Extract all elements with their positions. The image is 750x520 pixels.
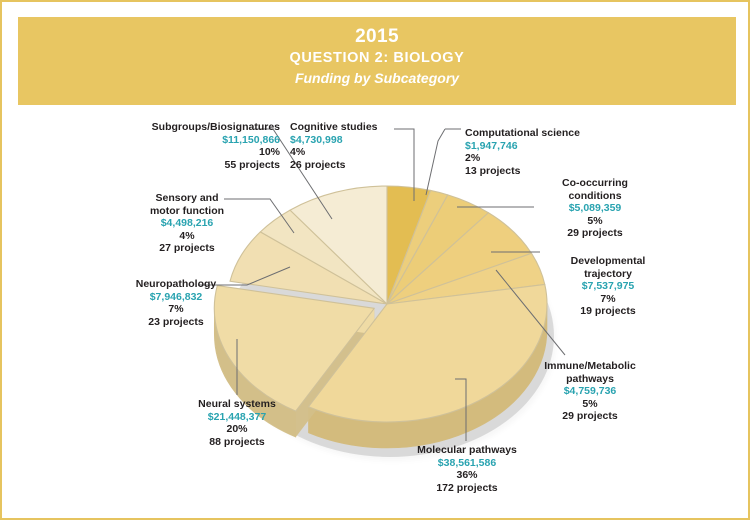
callout-label-name: Neuropathology (112, 278, 240, 291)
callout-label-projects: 23 projects (112, 316, 240, 329)
callout-label-name-line2: pathways (526, 373, 654, 386)
callout-subgroups-biosignatures: Subgroups/Biosignatures $11,150,866 10% … (110, 121, 280, 171)
callout-label-percent: 36% (393, 469, 541, 482)
chart-page: 2015 QUESTION 2: BIOLOGY Funding by Subc… (0, 0, 750, 520)
callout-label-percent: 4% (126, 230, 248, 243)
callout-label-percent: 7% (112, 303, 240, 316)
callout-label-name-line1: Co-occurring (537, 177, 653, 190)
header-question: QUESTION 2: BIOLOGY (18, 48, 736, 68)
callout-label-projects: 29 projects (537, 227, 653, 240)
callout-label-projects: 55 projects (110, 159, 280, 172)
callout-label-percent: 5% (537, 215, 653, 228)
callout-neuropathology: Neuropathology $7,946,832 7% 23 projects (112, 278, 240, 328)
callout-sensory-and-motor-function: Sensory and motor function $4,498,216 4%… (126, 192, 248, 255)
callout-developmental-trajectory: Developmental trajectory $7,537,975 7% 1… (545, 255, 671, 318)
callout-label-percent: 7% (545, 293, 671, 306)
callout-label-name-line1: Sensory and (126, 192, 248, 205)
callout-label-amount: $38,561,586 (393, 457, 541, 470)
header-year: 2015 (18, 26, 736, 48)
callout-molecular-pathways: Molecular pathways $38,561,586 36% 172 p… (393, 444, 541, 494)
callout-label-percent: 4% (290, 146, 402, 159)
callout-label-percent: 2% (465, 152, 605, 165)
callout-label-name: Computational science (465, 127, 605, 140)
callout-label-projects: 13 projects (465, 165, 605, 178)
callout-label-amount: $11,150,866 (110, 134, 280, 147)
callout-neural-systems: Neural systems $21,448,377 20% 88 projec… (172, 398, 302, 448)
callout-cognitive-studies: Cognitive studies $4,730,998 4% 26 proje… (290, 121, 402, 171)
callout-label-projects: 88 projects (172, 436, 302, 449)
callout-label-amount: $4,498,216 (126, 217, 248, 230)
callout-label-projects: 27 projects (126, 242, 248, 255)
callout-label-amount: $4,730,998 (290, 134, 402, 147)
callout-label-projects: 19 projects (545, 305, 671, 318)
callout-label-amount: $7,537,975 (545, 280, 671, 293)
callout-label-name-line2: conditions (537, 190, 653, 203)
callout-label-name-line2: trajectory (545, 268, 671, 281)
callout-label-projects: 172 projects (393, 482, 541, 495)
callout-label-percent: 5% (526, 398, 654, 411)
callout-label-name-line1: Developmental (545, 255, 671, 268)
callout-label-amount: $1,947,746 (465, 140, 605, 153)
pie-chart-area: Cognitive studies — $4,730,998 (4%, 26 p… (2, 107, 750, 520)
callout-label-amount: $4,759,736 (526, 385, 654, 398)
callout-co-occurring-conditions: Co-occurring conditions $5,089,359 5% 29… (537, 177, 653, 240)
callout-label-percent: 20% (172, 423, 302, 436)
header-subtitle: Funding by Subcategory (18, 68, 736, 88)
callout-immune-metabolic-pathways: Immune/Metabolic pathways $4,759,736 5% … (526, 360, 654, 423)
callout-label-percent: 10% (110, 146, 280, 159)
callout-label-amount: $5,089,359 (537, 202, 653, 215)
callout-label-name: Molecular pathways (393, 444, 541, 457)
callout-label-name: Cognitive studies (290, 121, 402, 134)
callout-label-name-line2: motor function (126, 205, 248, 218)
callout-label-projects: 26 projects (290, 159, 402, 172)
callout-computational-science: Computational science $1,947,746 2% 13 p… (465, 127, 605, 177)
callout-label-amount: $21,448,377 (172, 411, 302, 424)
callout-label-name: Subgroups/Biosignatures (110, 121, 280, 134)
leader-line-computational-science-stem (426, 129, 445, 195)
callout-label-name: Neural systems (172, 398, 302, 411)
callout-label-projects: 29 projects (526, 410, 654, 423)
header-banner: 2015 QUESTION 2: BIOLOGY Funding by Subc… (18, 17, 736, 105)
callout-label-name-line1: Immune/Metabolic (526, 360, 654, 373)
callout-label-amount: $7,946,832 (112, 291, 240, 304)
